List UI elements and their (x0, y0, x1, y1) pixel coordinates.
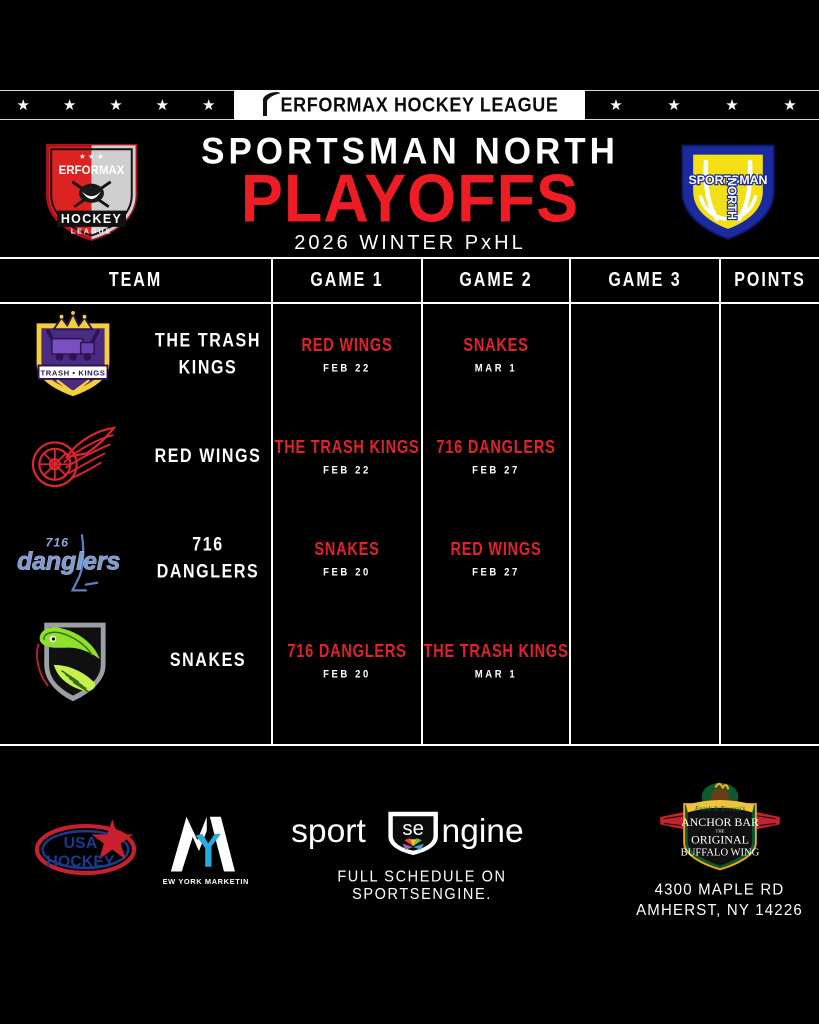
snakes-logo (23, 615, 123, 707)
game-3-cell (571, 610, 719, 712)
sportsman-north-shield-logo: SPORTSMAN NORTH (673, 132, 783, 247)
points-cell (721, 508, 819, 610)
star-icon: ★ (202, 98, 215, 113)
table-header-row: TEAM GAME 1 GAME 2 GAME 3 POINTS (0, 259, 819, 302)
league-name-text: ERFORMAX HOCKEY LEAGUE (281, 93, 559, 117)
team-logo-cell: TRASH • KINGS (0, 304, 145, 406)
svg-text:★ ★ ★: ★ ★ ★ (79, 152, 104, 161)
performax-p-icon (261, 96, 277, 115)
shield-performax-text: ERFORMAX (59, 165, 125, 177)
anchor-bar-logo: Frank & Teressa's ANCHOR BAR THE ORIGINA… (650, 782, 790, 874)
trash-kings-caption: TRASH • KINGS (40, 369, 105, 378)
sportsengine-text-badge: se (402, 818, 423, 840)
star-icon: ★ (667, 98, 680, 113)
game-1-cell: RED WINGS FEB 22 (273, 304, 421, 406)
usa-hockey-logo: USA HOCKEY (33, 816, 143, 878)
anchor-bar-block: Frank & Teressa's ANCHOR BAR THE ORIGINA… (620, 782, 819, 920)
stars-right-group: ★ ★ ★ ★ (587, 91, 819, 119)
game-2-cell: RED WINGS FEB 27 (423, 508, 569, 610)
schedule-table: TEAM GAME 1 GAME 2 GAME 3 POINTS (0, 257, 819, 746)
sportsengine-block: sport se ngine FULL SCHEDULE ON SPORTSEN… (272, 810, 572, 902)
team-logo-cell (0, 406, 145, 508)
opponent-name: SNAKES (314, 540, 379, 560)
game-1-cell: SNAKES FEB 20 (273, 508, 421, 610)
game-3-cell (571, 406, 719, 508)
red-wings-logo (23, 417, 123, 497)
column-header-points: POINTS (721, 254, 819, 308)
playoff-schedule-poster: ★ ★ ★ ★ ★ ERFORMAX HOCKEY LEAGUE ★ ★ ★ ★ (0, 0, 819, 1024)
game-3-cell (571, 304, 719, 406)
sportsengine-caption: FULL SCHEDULE ON SPORTSENGINE. (272, 868, 572, 903)
shield-north-text: NORTH (725, 177, 739, 219)
column-header-game-2: GAME 2 (423, 254, 569, 308)
points-cell (721, 406, 819, 508)
points-cell (721, 304, 819, 406)
game-date: FEB 20 (323, 668, 371, 681)
crown-icon (53, 314, 91, 329)
title-line-playoffs: PLAYOFFS (160, 168, 660, 233)
game-2-cell: 716 DANGLERS FEB 27 (423, 406, 569, 508)
opponent-name: SNAKES (463, 336, 528, 356)
game-date: MAR 1 (475, 362, 518, 375)
team-logo-cell (0, 610, 145, 712)
performax-hockey-league-shield-logo: ★ ★ ★ ERFORMAX HOCKEY LEAGUE (34, 132, 149, 247)
star-icon: ★ (16, 98, 29, 113)
opponent-name: THE TRASH KINGS (275, 438, 420, 458)
column-header-game-1: GAME 1 (273, 254, 421, 308)
game-2-cell: THE TRASH KINGS MAR 1 (423, 610, 569, 712)
sportsengine-text-right: ngine (441, 813, 523, 850)
game-1-cell: THE TRASH KINGS FEB 22 (273, 406, 421, 508)
game-date: FEB 27 (472, 566, 520, 579)
league-banner: ★ ★ ★ ★ ★ ERFORMAX HOCKEY LEAGUE ★ ★ ★ ★ (0, 90, 819, 120)
game-3-cell (571, 508, 719, 610)
anchor-bar-line2: ORIGINAL (691, 833, 749, 847)
trash-kings-logo: TRASH • KINGS (25, 310, 121, 400)
sponsor-footer: USA HOCKEY NEW YORK MARKETING sport se (0, 760, 819, 960)
address-line-2: AMHERST, NY 14226 (620, 901, 819, 921)
game-date: FEB 20 (323, 566, 371, 579)
table-row: 716 danglers 716 DANGLERS SNAKES FEB 20 … (0, 508, 819, 610)
league-name-bar: ERFORMAX HOCKEY LEAGUE (234, 90, 585, 120)
shield-hockey-text: HOCKEY (61, 212, 122, 226)
team-logo-cell: 716 danglers (0, 508, 145, 610)
anchor-bar-line3: BUFFALO WING (680, 848, 759, 859)
points-cell (721, 610, 819, 712)
title-text-group: SPORTSMAN NORTH PLAYOFFS 2026 WINTER PxH… (160, 122, 660, 255)
dump-truck-icon (51, 339, 93, 361)
game-date: FEB 22 (323, 464, 371, 477)
game-date: FEB 27 (472, 464, 520, 477)
anchor-bar-line1: ANCHOR BAR (680, 815, 758, 829)
team-name: SNAKES (145, 599, 271, 723)
table-row: SNAKES 716 DANGLERS FEB 20 THE TRASH KIN… (0, 610, 819, 712)
game-2-cell: SNAKES MAR 1 (423, 304, 569, 406)
opponent-name: RED WINGS (302, 336, 393, 356)
star-icon: ★ (63, 98, 76, 113)
column-header-game-3: GAME 3 (571, 254, 719, 308)
star-icon: ★ (725, 98, 738, 113)
star-icon: ★ (609, 98, 622, 113)
opponent-name: 716 DANGLERS (436, 438, 555, 458)
star-icon: ★ (156, 98, 169, 113)
sportsengine-logo: sport se ngine (287, 810, 557, 856)
stars-left-group: ★ ★ ★ ★ ★ (0, 91, 232, 119)
star-icon: ★ (109, 98, 122, 113)
shield-league-text: LEAGUE (71, 228, 112, 236)
star-icon: ★ (783, 98, 796, 113)
new-york-marketing-logo: NEW YORK MARKETING (163, 806, 249, 890)
game-date: MAR 1 (475, 668, 518, 681)
game-1-cell: 716 DANGLERS FEB 20 (273, 610, 421, 712)
716-danglers-logo: 716 danglers (15, 520, 130, 598)
anchor-bar-script: Frank & Teressa's (693, 806, 745, 813)
table-row: RED WINGS THE TRASH KINGS FEB 22 716 DAN… (0, 406, 819, 508)
title-block: ★ ★ ★ ERFORMAX HOCKEY LEAGUE SPORTSMAN N… (0, 122, 819, 256)
table-row: TRASH • KINGS THE TRASH KINGS RED WINGS … (0, 304, 819, 406)
hockey-text: HOCKEY (46, 853, 114, 870)
anchor-bar-address: 4300 MAPLE RD AMHERST, NY 14226 (620, 881, 819, 921)
sportsengine-text-left: sport (291, 813, 366, 850)
usa-text: USA (64, 835, 98, 852)
opponent-name: RED WINGS (451, 540, 542, 560)
danglers-wordmark-text: danglers (17, 548, 120, 575)
address-line-1: 4300 MAPLE RD (620, 881, 819, 901)
opponent-name: 716 DANGLERS (287, 642, 406, 662)
game-date: FEB 22 (323, 362, 371, 375)
new-york-marketing-label: NEW YORK MARKETING (163, 877, 249, 886)
opponent-name: THE TRASH KINGS (424, 642, 569, 662)
